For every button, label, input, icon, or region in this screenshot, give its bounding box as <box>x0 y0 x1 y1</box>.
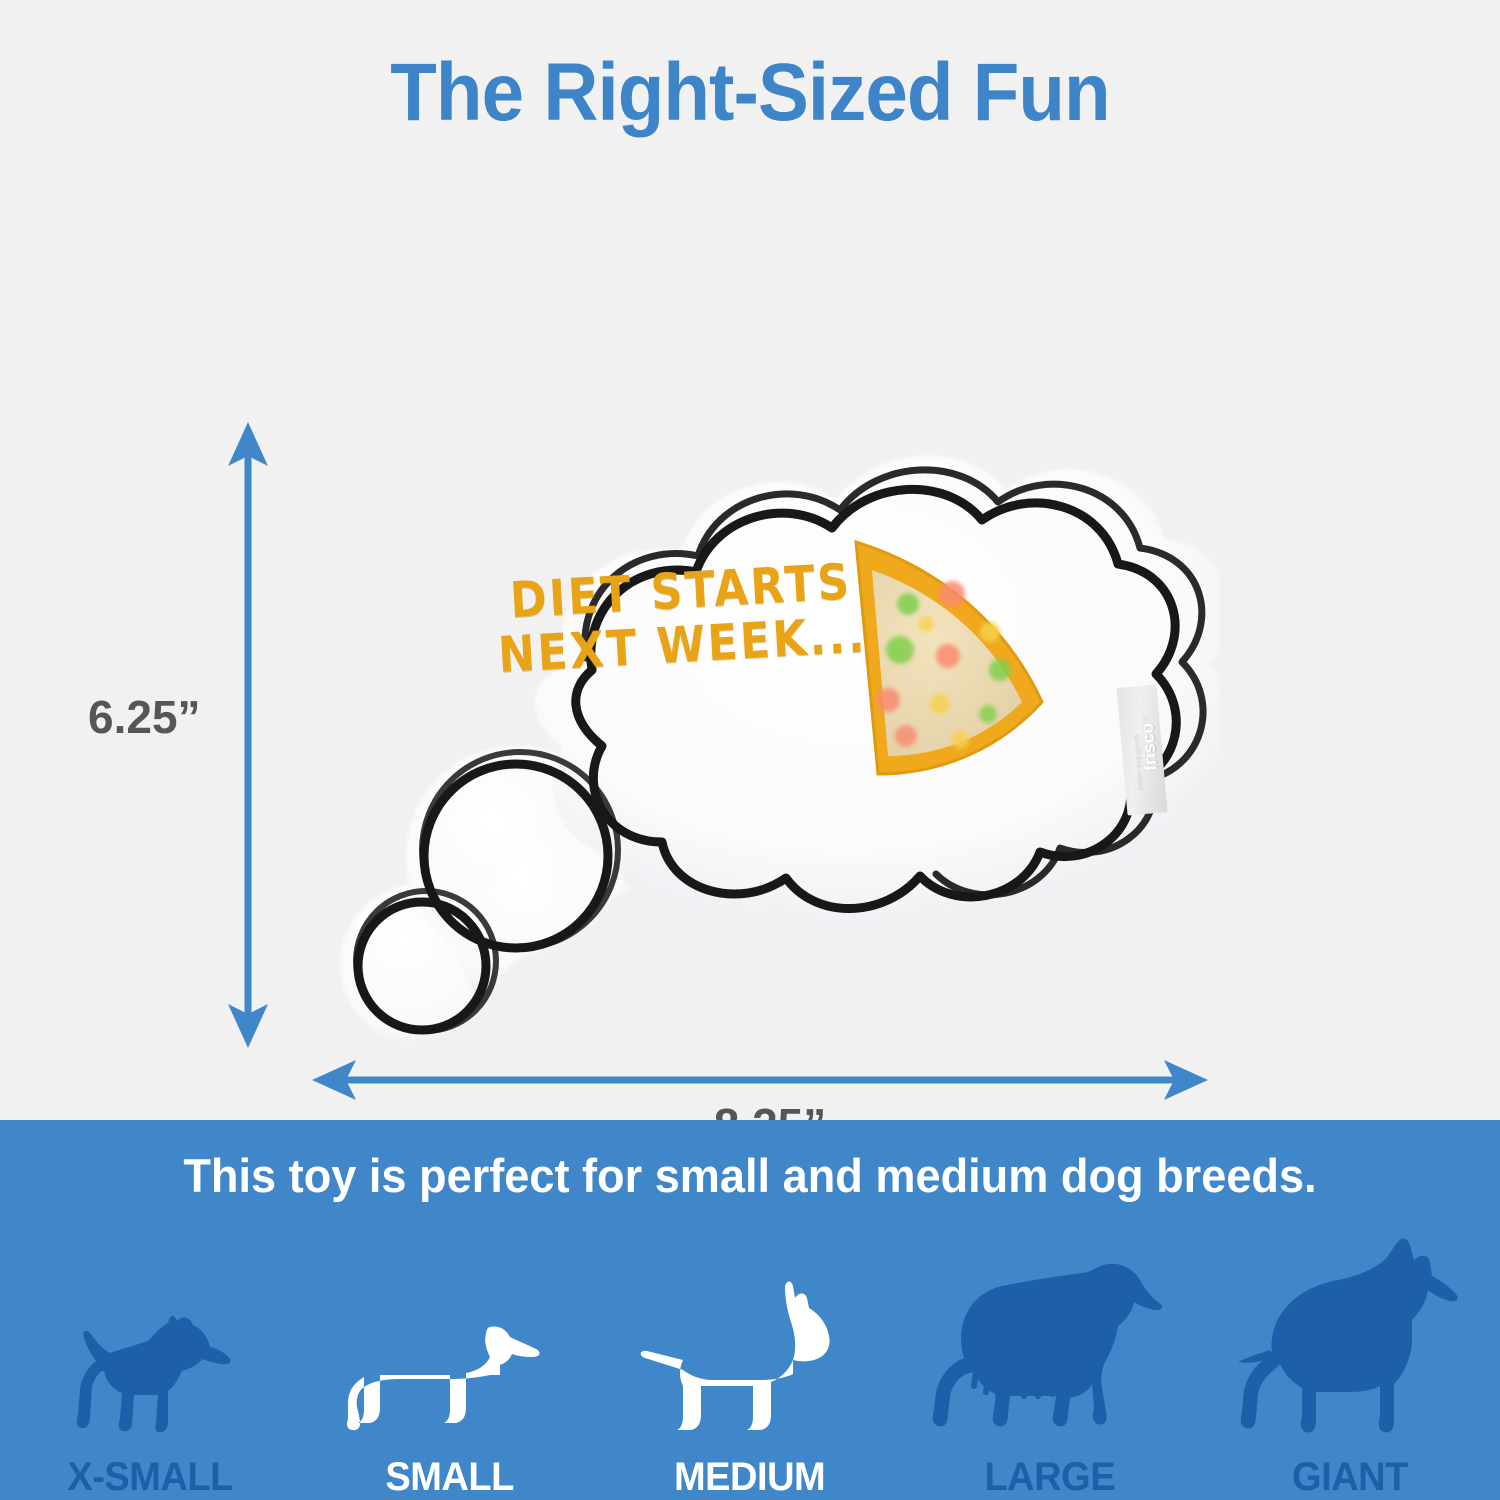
size-label-giant: GIANT <box>1292 1455 1408 1500</box>
size-label-x-small: X-SMALL <box>67 1455 233 1500</box>
size-label-medium: MEDIUM <box>674 1455 825 1500</box>
infographic-page: The Right-Sized Fun 6.25” 8.25” <box>0 0 1500 1500</box>
toy-illustration <box>300 418 1220 1078</box>
plush-toy-image: DIET STARTS NEXT WEEK... frisco® better … <box>300 418 1220 1078</box>
dog-size-scale: X-SMALL SMALL MEDIUM <box>0 1220 1500 1500</box>
size-option-small[interactable]: SMALL <box>300 1220 600 1500</box>
banner-headline: This toy is perfect for small and medium… <box>30 1148 1470 1203</box>
size-option-giant[interactable]: GIANT <box>1200 1220 1500 1500</box>
size-recommendation-banner: This toy is perfect for small and medium… <box>0 1120 1500 1500</box>
size-option-medium[interactable]: MEDIUM <box>600 1220 900 1500</box>
size-label-large: LARGE <box>985 1455 1116 1500</box>
bull-terrier-dog-icon <box>635 1274 865 1449</box>
chihuahua-dog-icon <box>50 1299 250 1449</box>
golden-retriever-dog-icon <box>930 1254 1170 1449</box>
vertical-dimension-arrow <box>222 420 274 1050</box>
height-dimension-label: 6.25” <box>88 690 201 744</box>
size-option-x-small[interactable]: X-SMALL <box>0 1220 300 1500</box>
size-option-large[interactable]: LARGE <box>900 1220 1200 1500</box>
product-dimension-area: 6.25” 8.25” <box>0 120 1500 1120</box>
size-label-small: SMALL <box>386 1455 515 1500</box>
dachshund-dog-icon <box>340 1299 560 1449</box>
great-dane-dog-icon <box>1230 1234 1470 1449</box>
toy-body-shape <box>340 456 1220 1044</box>
